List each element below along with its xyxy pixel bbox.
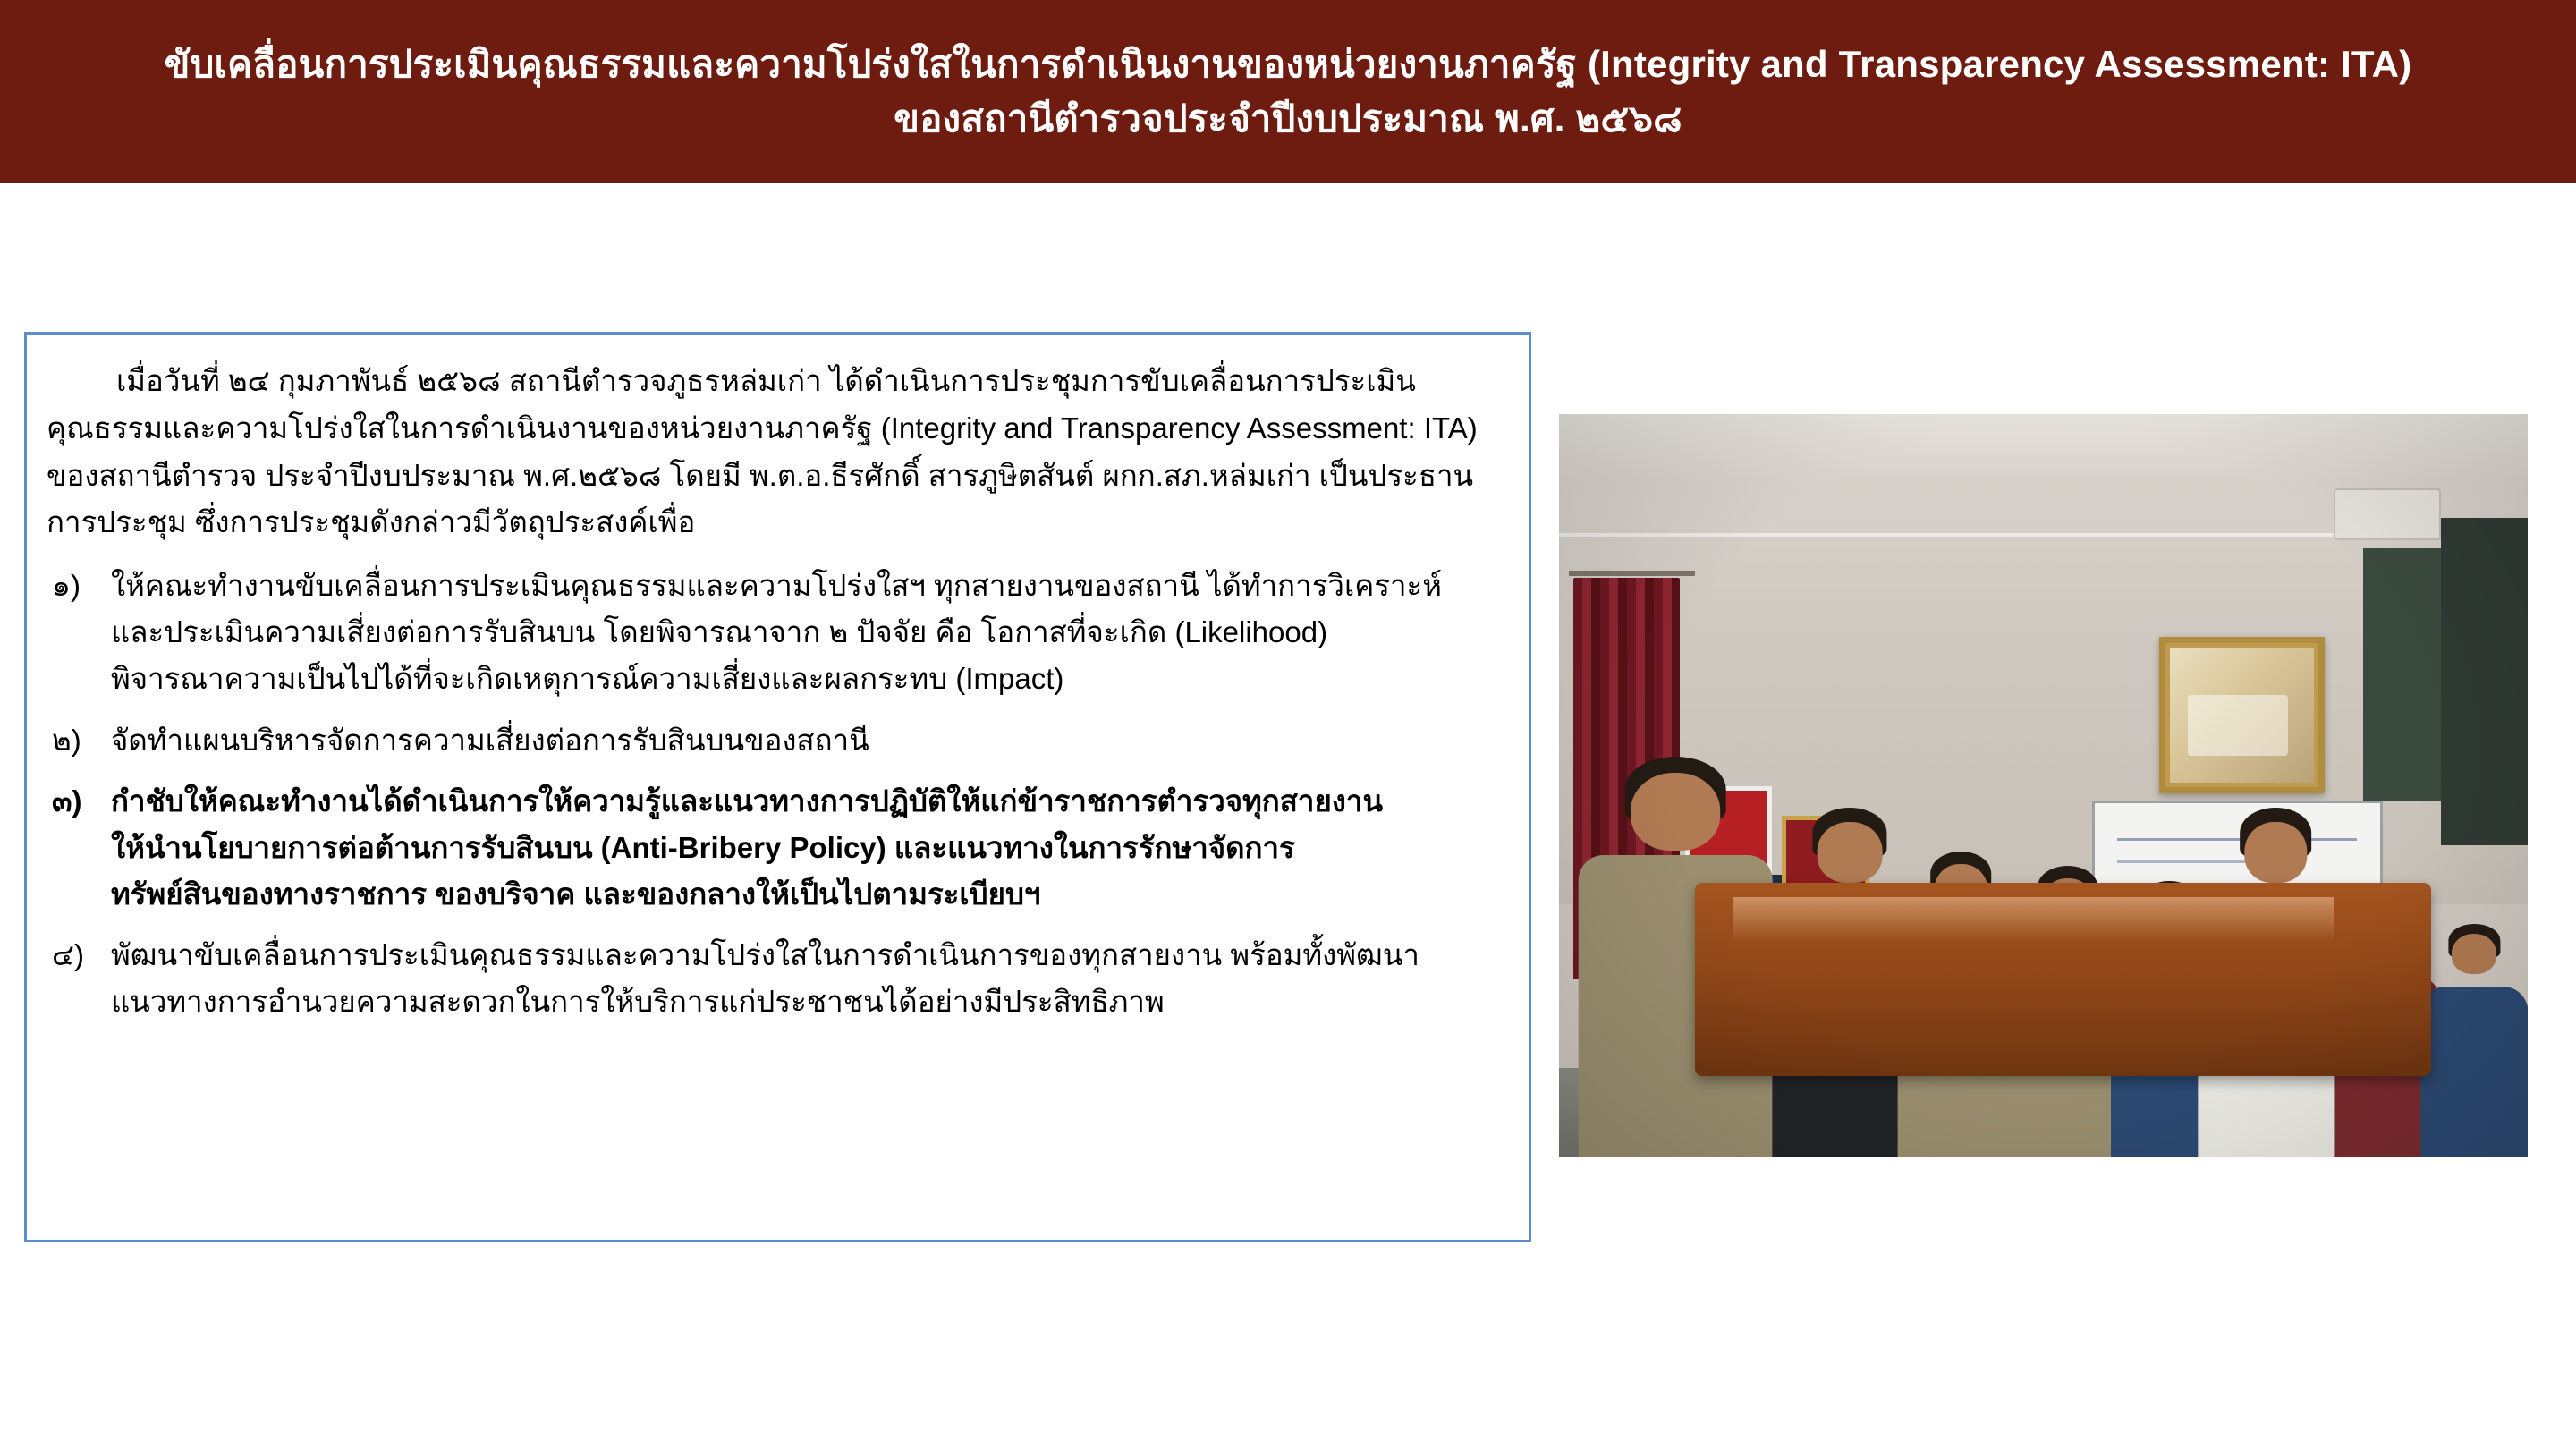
- objective-text-line: พิจารณาความเป็นไปได้ที่จะเกิดเหตุการณ์คว…: [111, 656, 1502, 702]
- objectives-list: ๑)ให้คณะทำงานขับเคลื่อนการประเมินคุณธรรม…: [47, 563, 1502, 1025]
- header-title-line-2: ของสถานีตำรวจประจำปีงบประมาณ พ.ศ. ๒๕๖๘: [894, 92, 1682, 147]
- objective-text-line: ให้คณะทำงานขับเคลื่อนการประเมินคุณธรรมแล…: [111, 563, 1502, 609]
- objective-item: ๔)พัฒนาขับเคลื่อนการประเมินคุณธรรมและควา…: [47, 932, 1502, 1025]
- intro-paragraph: เมื่อวันที่ ๒๔ กุมภาพันธ์ ๒๕๖๘ สถานีตำรว…: [47, 358, 1502, 547]
- objective-text: พัฒนาขับเคลื่อนการประเมินคุณธรรมและความโ…: [111, 932, 1502, 1025]
- photo-scene: [1559, 414, 2528, 1157]
- objective-text-line: จัดทำแผนบริหารจัดการความเสี่ยงต่อการรับส…: [111, 717, 1502, 764]
- header-title-line-1: ขับเคลื่อนการประเมินคุณธรรมและความโปร่งใ…: [165, 38, 2412, 92]
- objective-text-line: ให้นำนโยบายการต่อต้านการรับสินบน (Anti-B…: [111, 825, 1502, 871]
- objective-item: ๓)กำชับให้คณะทำงานได้ดำเนินการให้ความรู้…: [47, 778, 1502, 918]
- meeting-photo: [1559, 414, 2528, 1157]
- objective-text-line: พัฒนาขับเคลื่อนการประเมินคุณธรรมและความโ…: [111, 932, 1502, 979]
- objective-marker: ๒): [47, 717, 111, 764]
- objective-text-line: แนวทางการอำนวยความสะดวกในการให้บริการแก่…: [111, 979, 1502, 1025]
- objective-marker: ๔): [47, 932, 111, 979]
- objective-marker: ๓): [47, 778, 111, 825]
- objective-item: ๒)จัดทำแผนบริหารจัดการความเสี่ยงต่อการรั…: [47, 717, 1502, 764]
- objective-text: จัดทำแผนบริหารจัดการความเสี่ยงต่อการรับส…: [111, 717, 1502, 764]
- objective-item: ๑)ให้คณะทำงานขับเคลื่อนการประเมินคุณธรรม…: [47, 563, 1502, 702]
- header-banner: ขับเคลื่อนการประเมินคุณธรรมและความโปร่งใ…: [0, 0, 2576, 183]
- objective-text: กำชับให้คณะทำงานได้ดำเนินการให้ความรู้แล…: [111, 778, 1502, 918]
- objective-text-line: กำชับให้คณะทำงานได้ดำเนินการให้ความรู้แล…: [111, 778, 1502, 825]
- objective-text: ให้คณะทำงานขับเคลื่อนการประเมินคุณธรรมแล…: [111, 563, 1502, 702]
- objective-marker: ๑): [47, 563, 111, 609]
- objective-text-line: ทรัพย์สินของทางราชการ ของบริจาค และของกล…: [111, 871, 1502, 918]
- content-textbox: เมื่อวันที่ ๒๔ กุมภาพันธ์ ๒๕๖๘ สถานีตำรว…: [24, 332, 1531, 1242]
- photo-vignette: [1559, 414, 2528, 1157]
- slide-body: เมื่อวันที่ ๒๔ กุมภาพันธ์ ๒๕๖๘ สถานีตำรว…: [0, 183, 2576, 1449]
- objective-text-line: และประเมินความเสี่ยงต่อการรับสินบน โดยพิ…: [111, 609, 1502, 656]
